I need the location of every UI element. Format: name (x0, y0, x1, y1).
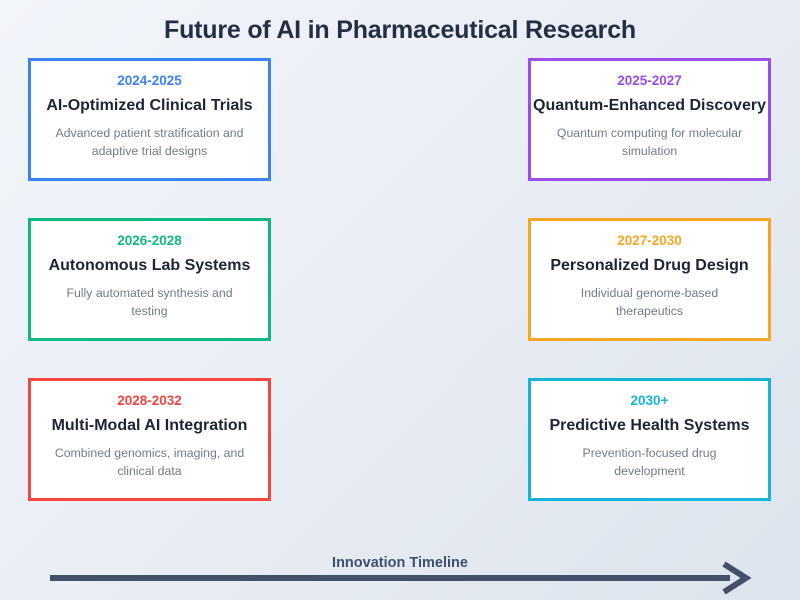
card-year-label: 2024-2025 (117, 74, 182, 89)
timeline-card[interactable]: 2028-2032Multi-Modal AI IntegrationCombi… (28, 378, 271, 501)
card-heading: Autonomous Lab Systems (49, 257, 251, 275)
card-description: Fully automated synthesis and testing (50, 285, 250, 320)
card-description: Advanced patient stratification and adap… (50, 125, 250, 160)
timeline-card[interactable]: 2025-2027Quantum-Enhanced DiscoveryQuant… (528, 58, 771, 181)
page-title: Future of AI in Pharmaceutical Research (0, 16, 800, 45)
arrow-right-icon (40, 560, 760, 600)
card-heading: AI-Optimized Clinical Trials (46, 97, 252, 115)
card-description: Combined genomics, imaging, and clinical… (50, 445, 250, 480)
card-description: Quantum computing for molecular simulati… (550, 125, 750, 160)
card-heading: Multi-Modal AI Integration (52, 417, 248, 435)
timeline-card[interactable]: 2027-2030Personalized Drug DesignIndivid… (528, 218, 771, 341)
timeline-card[interactable]: 2024-2025AI-Optimized Clinical TrialsAdv… (28, 58, 271, 181)
card-year-label: 2030+ (631, 394, 669, 409)
card-description: Individual genome-based therapeutics (550, 285, 750, 320)
timeline-card[interactable]: 2030+Predictive Health SystemsPrevention… (528, 378, 771, 501)
card-heading: Quantum-Enhanced Discovery (533, 97, 766, 115)
card-year-label: 2028-2032 (117, 394, 182, 409)
card-year-label: 2026-2028 (117, 234, 182, 249)
card-year-label: 2025-2027 (617, 74, 682, 89)
card-description: Prevention-focused drug development (550, 445, 750, 480)
timeline-card[interactable]: 2026-2028Autonomous Lab SystemsFully aut… (28, 218, 271, 341)
card-heading: Personalized Drug Design (550, 257, 748, 275)
card-heading: Predictive Health Systems (549, 417, 749, 435)
card-year-label: 2027-2030 (617, 234, 682, 249)
